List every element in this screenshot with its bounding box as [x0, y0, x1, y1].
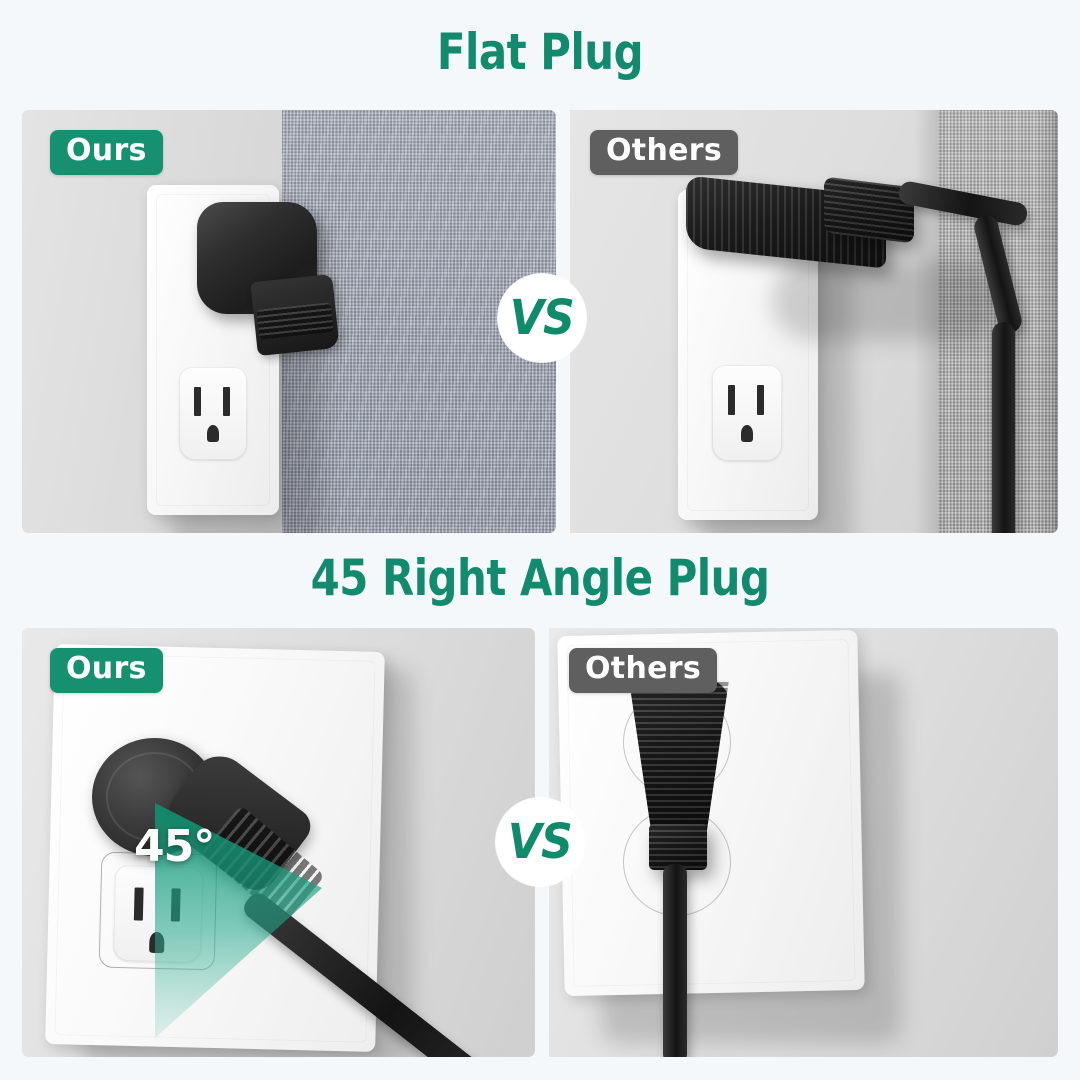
power-cord-others [663, 864, 687, 1057]
socket-slot-right [757, 385, 764, 415]
badge-others-flat: Others [590, 130, 738, 175]
socket-slot-right [171, 888, 181, 921]
socket-ground-pin [207, 425, 219, 442]
vs-badge-flat: VS [498, 274, 586, 362]
badge-ours-flat: Ours [50, 130, 163, 175]
panel-flat-ours: Ours [22, 110, 556, 533]
outlet-socket [179, 367, 247, 460]
badge-others-angle: Others [569, 648, 717, 693]
socket-slot-left [194, 387, 201, 416]
vs-label: VS [508, 814, 572, 870]
socket-ground-pin [149, 932, 165, 953]
vs-label: VS [510, 290, 574, 346]
vs-badge-angle: VS [496, 798, 584, 886]
page-title-flat-plug: Flat Plug [38, 27, 1042, 77]
angle-label-45: 45° [134, 821, 214, 872]
socket-ground-pin [741, 425, 753, 442]
socket-slot-right [223, 387, 230, 416]
socket-slot-left [134, 887, 144, 920]
outlet-socket [712, 365, 782, 461]
panel-angle-ours: 45° Ours [22, 628, 535, 1057]
panel-flat-others: Others [562, 110, 1058, 533]
outlet-socket [113, 865, 203, 963]
page-title-45-right-angle-plug: 45 Right Angle Plug [38, 553, 1042, 603]
power-cord-segment-3-others [992, 322, 1015, 533]
socket-slot-left [728, 385, 735, 415]
panel-angle-others: Others [541, 628, 1058, 1057]
badge-ours-angle: Ours [50, 648, 163, 693]
plug-shadow-others [772, 260, 1002, 340]
